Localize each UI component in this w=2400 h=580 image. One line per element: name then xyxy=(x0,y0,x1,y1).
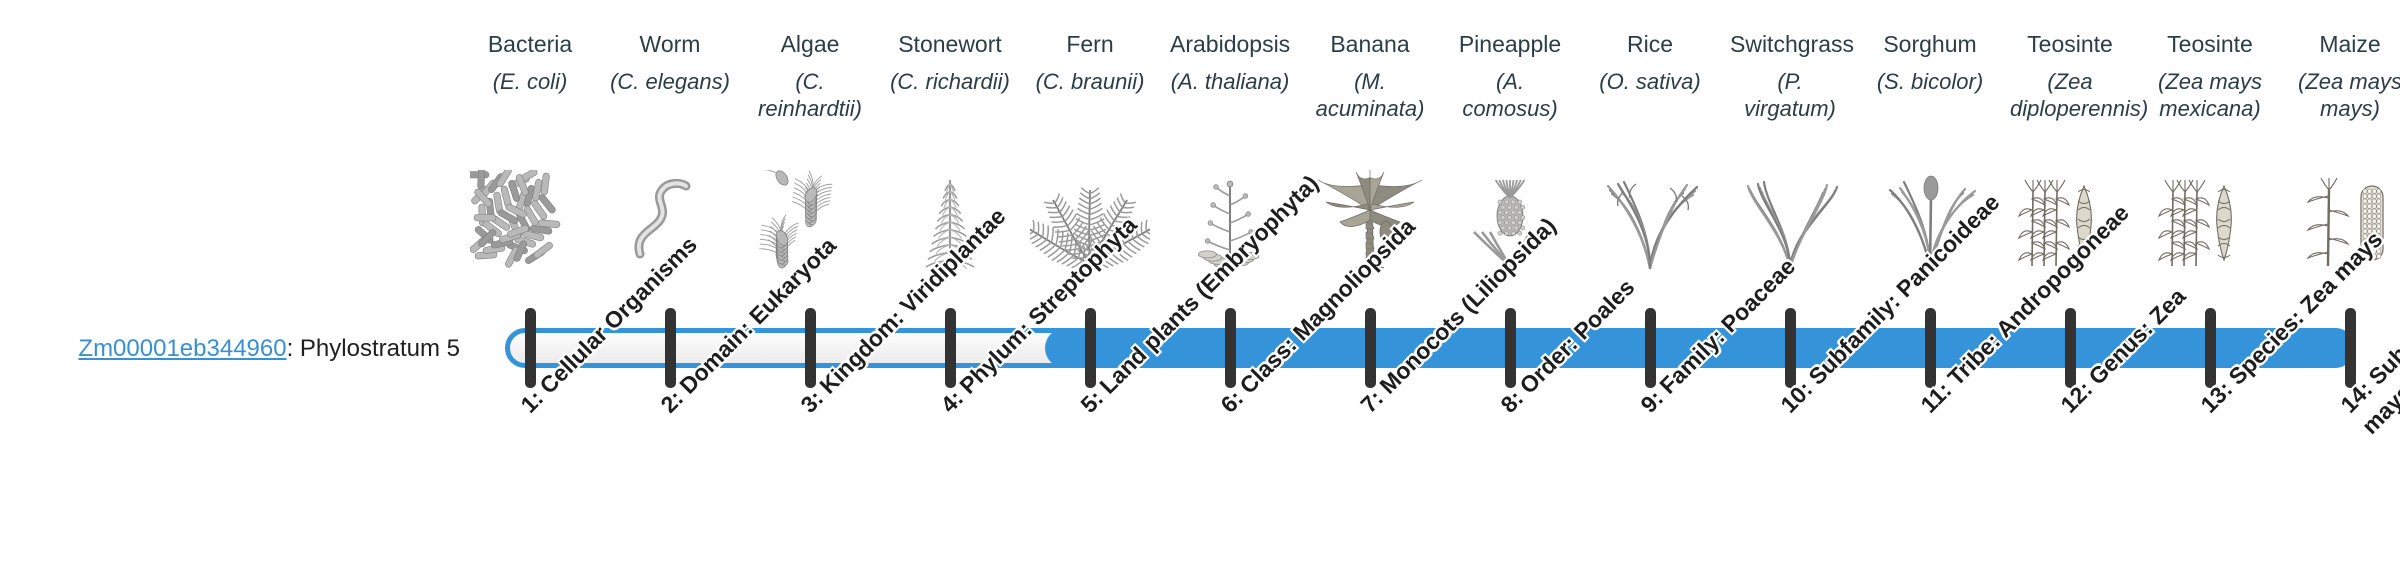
species-scientific-name: (Zea mays mays) xyxy=(2290,68,2400,124)
species-scientific-name: (E. coli) xyxy=(470,68,590,124)
bar-tick-12 xyxy=(2065,308,2076,388)
species-column-sorghum-11: Sorghum(S. bicolor) xyxy=(1870,30,1990,124)
maize-icon xyxy=(2290,170,2400,270)
bacteria-icon xyxy=(470,170,590,270)
species-column-switchgrass-10: Switchgrass(P. virgatum) xyxy=(1730,30,1850,124)
rice-icon xyxy=(1590,170,1710,270)
species-scientific-name: (S. bicolor) xyxy=(1870,68,1990,124)
bar-tick-2 xyxy=(665,308,676,388)
bar-tick-13 xyxy=(2205,308,2216,388)
bar-tick-4 xyxy=(945,308,956,388)
bar-tick-8 xyxy=(1505,308,1516,388)
bar-tick-9 xyxy=(1645,308,1656,388)
teosinte-diplo-icon xyxy=(2010,170,2130,270)
species-common-name: Teosinte xyxy=(2150,30,2270,60)
species-common-name: Maize xyxy=(2290,30,2400,60)
species-scientific-name: (Zea mays mexicana) xyxy=(2150,68,2270,124)
bar-tick-10 xyxy=(1785,308,1796,388)
species-common-name: Teosinte xyxy=(2010,30,2130,60)
species-common-name: Sorghum xyxy=(1870,30,1990,60)
banana-icon xyxy=(1310,170,1430,270)
species-common-name: Pineapple xyxy=(1450,30,1570,60)
species-column-maize-14: Maize(Zea mays mays) xyxy=(2290,30,2400,124)
switchgrass-icon xyxy=(1730,170,1850,270)
bar-tick-5 xyxy=(1085,308,1096,388)
species-column-teosinte-13: Teosinte(Zea mays mexicana) xyxy=(2150,30,2270,124)
bar-tick-14 xyxy=(2345,308,2356,388)
species-column-arabidopsis-6: Arabidopsis(A. thaliana) xyxy=(1170,30,1290,124)
species-scientific-name: (A. thaliana) xyxy=(1170,68,1290,124)
bar-tick-1 xyxy=(525,308,536,388)
bar-tick-3 xyxy=(805,308,816,388)
worm-icon xyxy=(610,170,730,270)
phylostratum-bar xyxy=(0,300,2400,390)
phylostratigraphy-chart: Zm00001eb344960: Phylostratum 5 Bacteria… xyxy=(0,0,2400,580)
species-scientific-name: (P. virgatum) xyxy=(1730,68,1850,124)
species-common-name: Stonewort xyxy=(890,30,1010,60)
species-common-name: Switchgrass xyxy=(1730,30,1850,60)
arabidopsis-icon xyxy=(1170,170,1290,270)
species-column-teosinte-12: Teosinte(Zea diploperennis) xyxy=(2010,30,2130,124)
species-column-stonewort-4: Stonewort(C. richardii) xyxy=(890,30,1010,124)
species-scientific-name: (C. elegans) xyxy=(610,68,730,124)
species-common-name: Banana xyxy=(1310,30,1430,60)
species-common-name: Algae xyxy=(750,30,870,60)
species-column-fern-5: Fern(C. braunii) xyxy=(1030,30,1150,124)
bar-tick-6 xyxy=(1225,308,1236,388)
species-column-worm-2: Worm(C. elegans) xyxy=(610,30,730,124)
algae-icon xyxy=(750,170,870,270)
pineapple-icon xyxy=(1450,170,1570,270)
teosinte-mex-icon xyxy=(2150,170,2270,270)
species-column-pineapple-8: Pineapple(A. comosus) xyxy=(1450,30,1570,124)
bar-tick-7 xyxy=(1365,308,1376,388)
species-common-name: Bacteria xyxy=(470,30,590,60)
fern-icon xyxy=(1030,170,1150,270)
species-scientific-name: (C. braunii) xyxy=(1030,68,1150,124)
stonewort-icon xyxy=(890,170,1010,270)
species-column-bacteria-1: Bacteria(E. coli) xyxy=(470,30,590,124)
species-column-rice-9: Rice(O. sativa) xyxy=(1590,30,1710,124)
species-scientific-name: (A. comosus) xyxy=(1450,68,1570,124)
species-common-name: Arabidopsis xyxy=(1170,30,1290,60)
species-common-name: Rice xyxy=(1590,30,1710,60)
species-scientific-name: (C. reinhardtii) xyxy=(750,68,870,124)
bar-fill xyxy=(1045,328,2355,368)
species-common-name: Fern xyxy=(1030,30,1150,60)
species-column-algae-3: Algae(C. reinhardtii) xyxy=(750,30,870,124)
bar-tick-11 xyxy=(1925,308,1936,388)
species-scientific-name: (C. richardii) xyxy=(890,68,1010,124)
species-column-banana-7: Banana(M. acuminata) xyxy=(1310,30,1430,124)
species-common-name: Worm xyxy=(610,30,730,60)
species-scientific-name: (Zea diploperennis) xyxy=(2010,68,2130,124)
sorghum-icon xyxy=(1870,170,1990,270)
species-scientific-name: (O. sativa) xyxy=(1590,68,1710,124)
species-scientific-name: (M. acuminata) xyxy=(1310,68,1430,124)
